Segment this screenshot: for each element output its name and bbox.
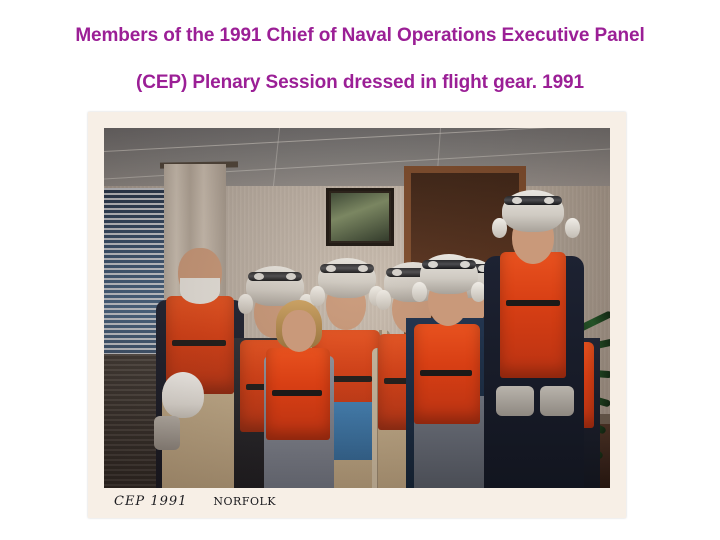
helmet-earcup (376, 290, 391, 310)
life-vest (500, 252, 566, 378)
head (282, 310, 316, 352)
goggle-lens (428, 261, 438, 268)
person-figure (260, 264, 338, 488)
goggles (422, 260, 476, 269)
photograph-image (104, 128, 610, 488)
helmet-earcup (565, 218, 580, 238)
goggle-lens (512, 197, 522, 204)
goggle-lens (392, 269, 402, 276)
title-line-2: (CEP) Plenary Session dressed in flight … (0, 73, 720, 92)
title-line-1: Members of the 1991 Chief of Naval Opera… (0, 26, 720, 45)
goggle-lens (460, 261, 470, 268)
glove (154, 416, 180, 450)
person-figure (404, 226, 492, 488)
held-white-helmet (162, 372, 204, 418)
helmet-earcup (412, 282, 427, 302)
slide-canvas: Members of the 1991 Chief of Naval Opera… (0, 0, 720, 540)
vest-strap (272, 390, 322, 396)
page-title: Members of the 1991 Chief of Naval Opera… (0, 26, 720, 92)
beard (180, 278, 220, 304)
photograph-frame: CEP 1991NORFOLK (88, 112, 626, 518)
goggle-lens (544, 197, 554, 204)
vest-strap (420, 370, 472, 376)
caption-event: CEP 1991 (114, 494, 187, 509)
vest-strap (172, 340, 226, 346)
goggles (504, 196, 562, 205)
glove (496, 386, 534, 416)
helmet-earcup (492, 218, 507, 238)
helmet-earcup (238, 294, 253, 314)
ceiling-seam (272, 128, 280, 192)
person-figure (482, 188, 586, 488)
caption-place: NORFOLK (213, 495, 276, 508)
glove (540, 386, 574, 416)
vest-strap (506, 300, 560, 306)
goggle-lens (358, 265, 368, 272)
handwritten-caption: CEP 1991NORFOLK (114, 494, 276, 509)
